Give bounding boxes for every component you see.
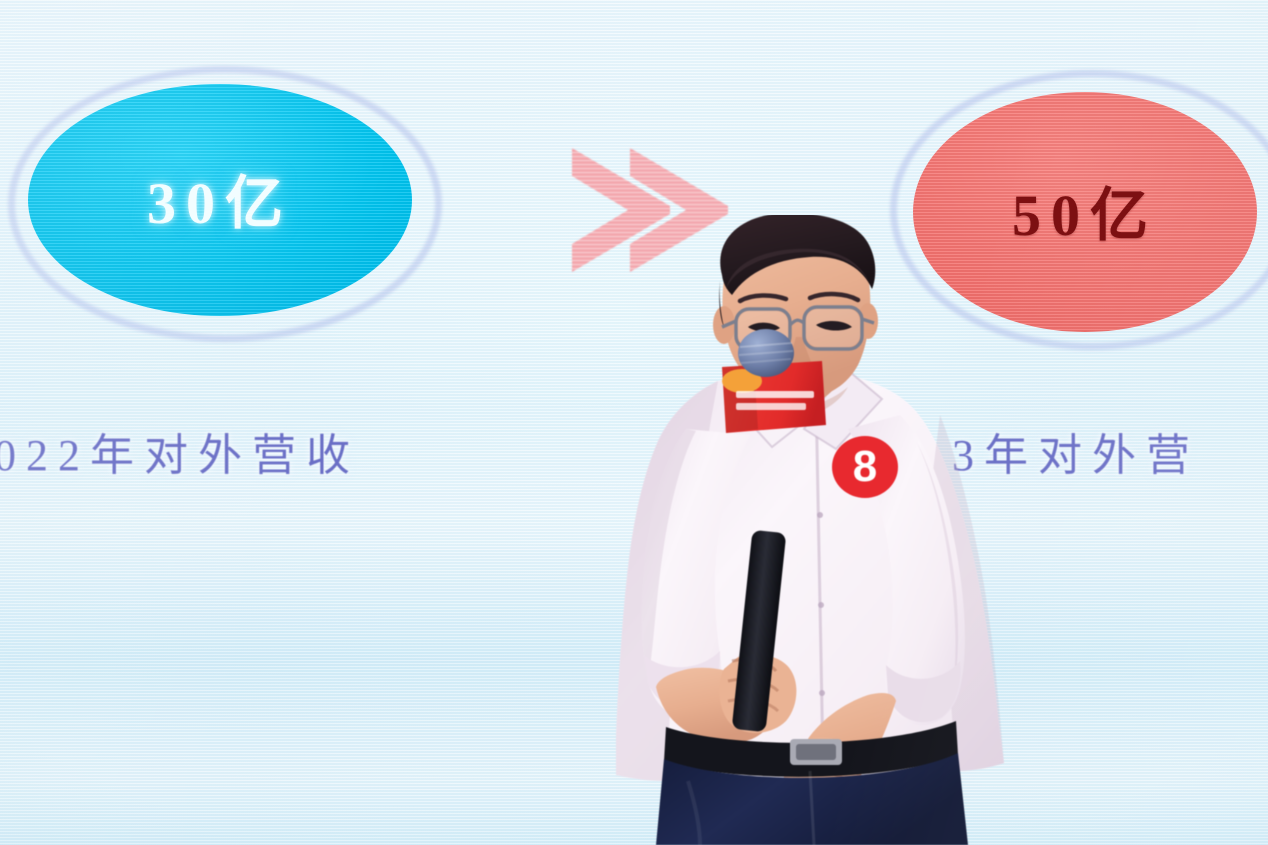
metric-value-right: 50亿: [1012, 168, 1158, 252]
metric-bubble-left: 30亿: [28, 84, 412, 316]
badge-number: 8: [832, 436, 898, 498]
svg-text:8: 8: [853, 442, 877, 491]
metric-caption-left: 022年对外营收: [0, 419, 360, 483]
speaker-person: 8: [600, 215, 1020, 845]
metric-value-left: 30亿: [147, 156, 293, 240]
stage-photo: 30亿 50亿 022年对外营收: [0, 0, 1268, 845]
